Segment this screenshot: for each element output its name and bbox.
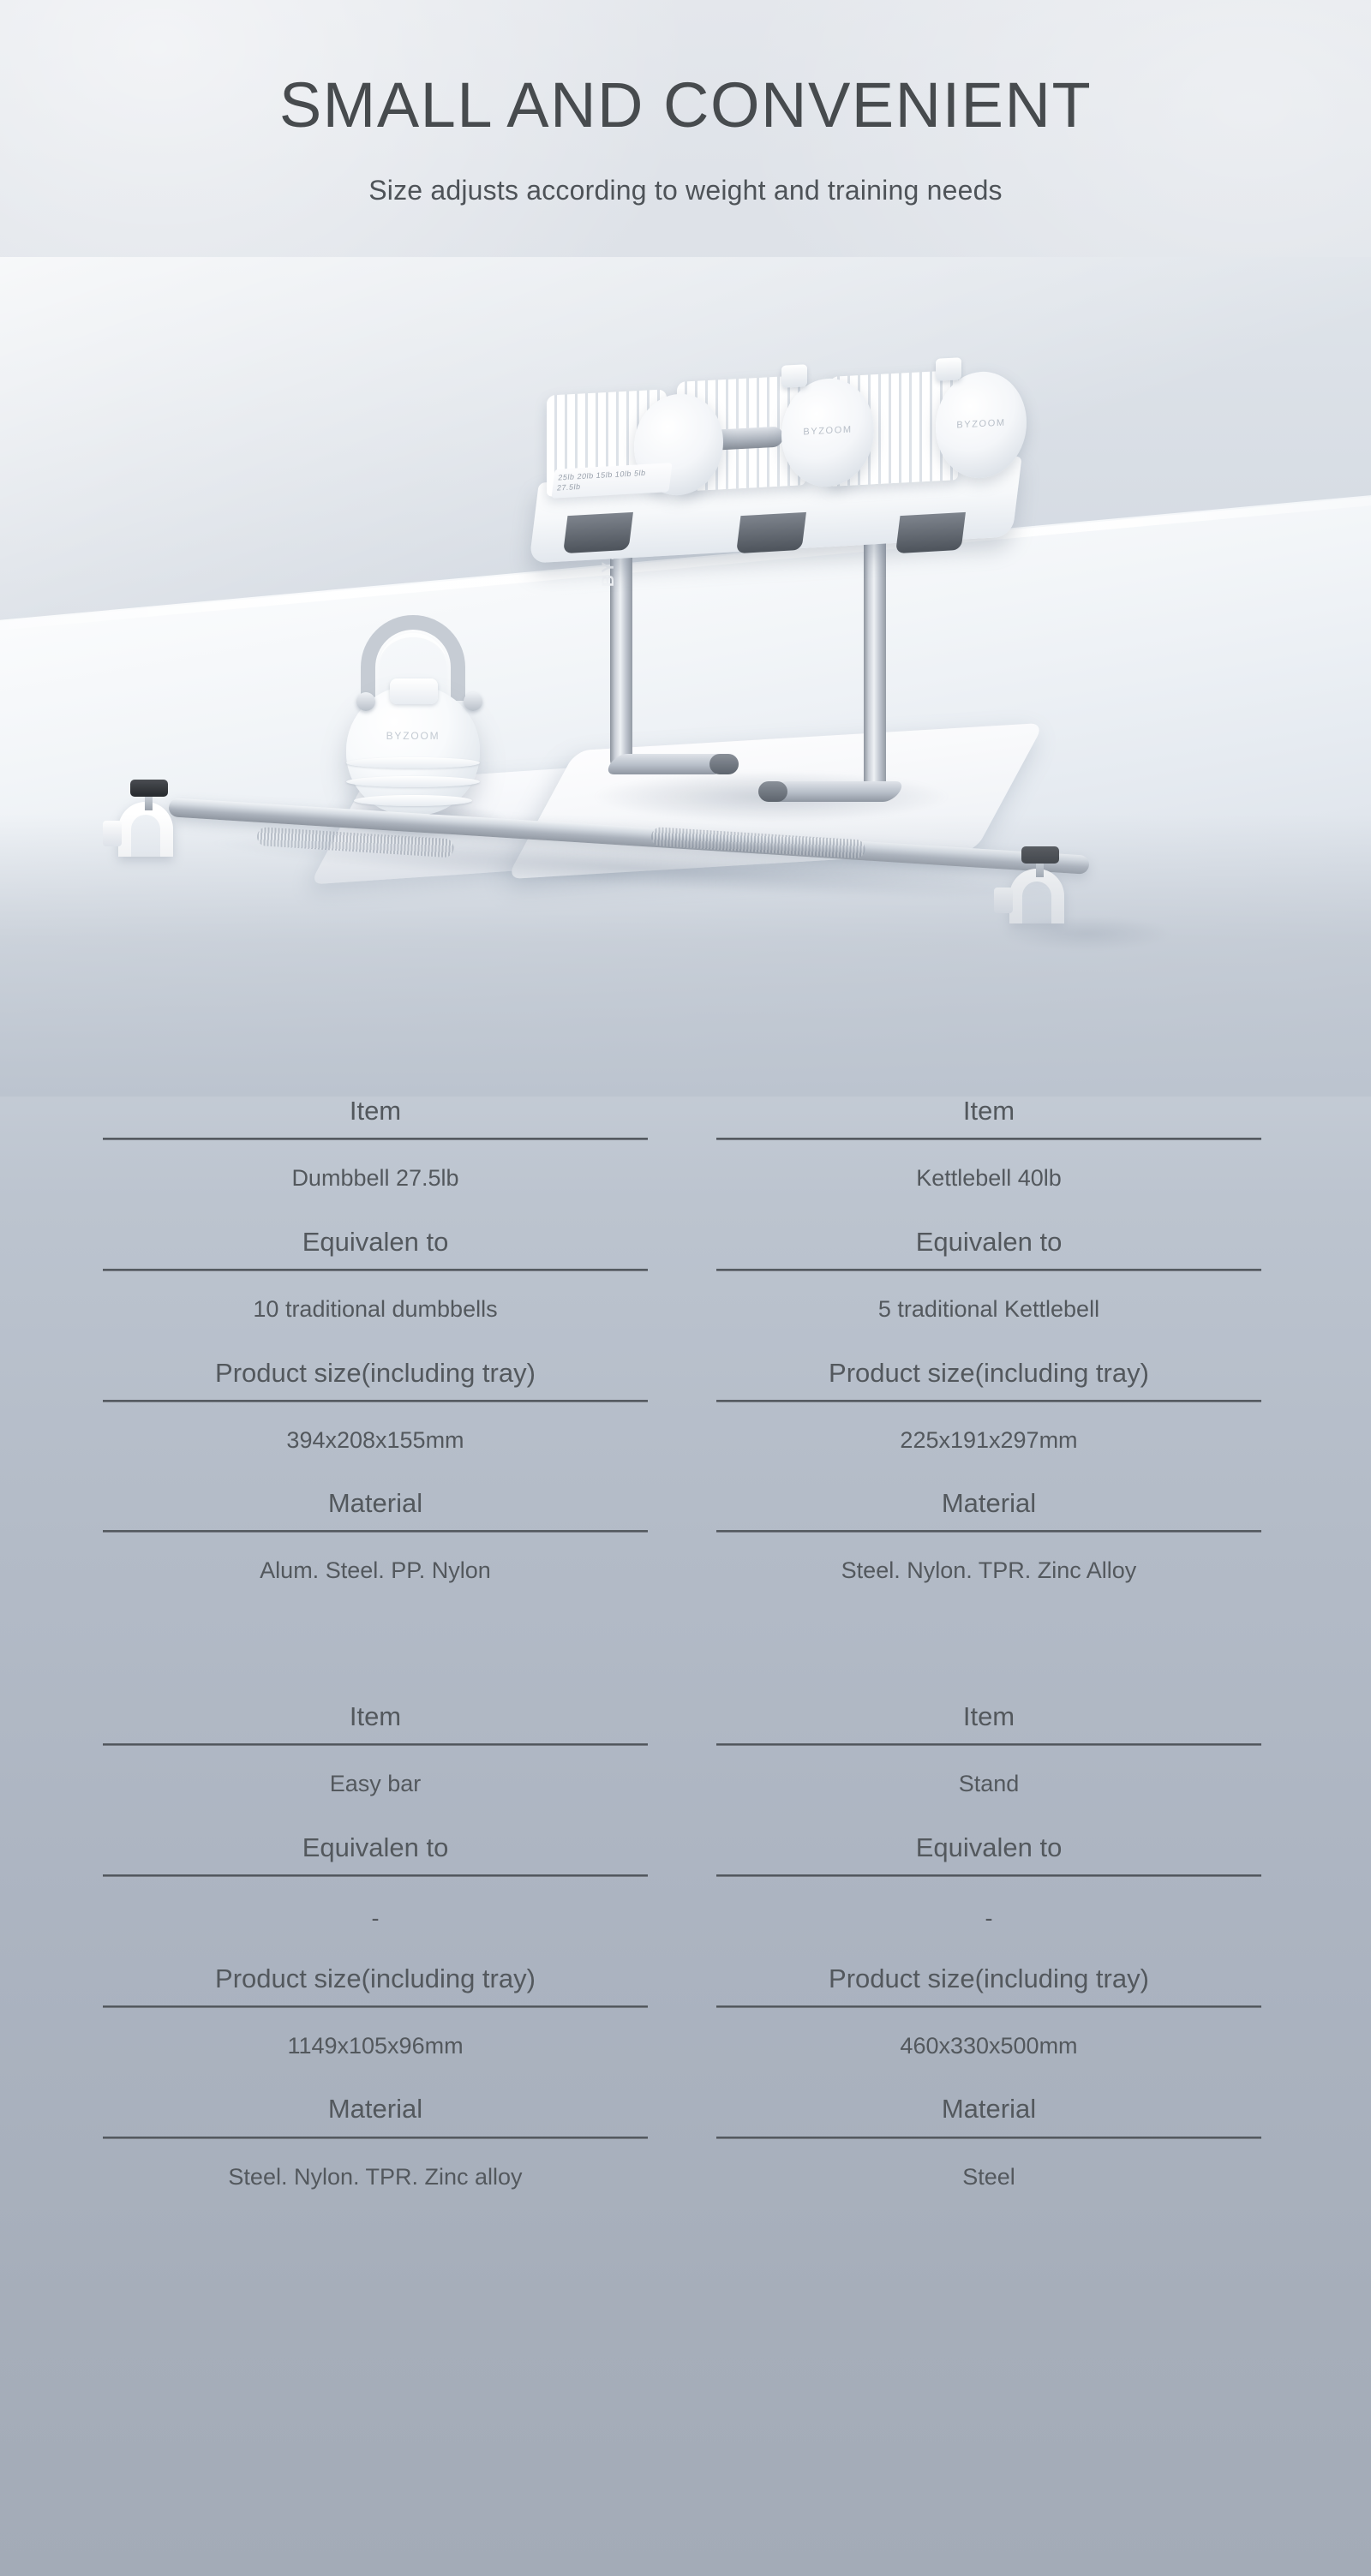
spec-label-item: Item — [716, 1702, 1261, 1743]
dumbbell-selector-clip — [781, 364, 807, 388]
spec-label-material: Material — [103, 1489, 648, 1530]
clamp-knob — [130, 780, 168, 797]
spec-value-equivalent: 5 traditional Kettlebell — [716, 1271, 1261, 1359]
spec-label-product-size: Product size(including tray) — [103, 1359, 648, 1400]
tray-notch — [563, 512, 633, 553]
spec-value-item: Easy bar — [103, 1746, 648, 1833]
spec-label-equivalent: Equivalen to — [716, 1228, 1261, 1269]
spec-value-product-size: 394x208x155mm — [103, 1402, 648, 1490]
spec-label-item: Item — [103, 1097, 648, 1138]
spec-column-dumbbell: Item Dumbbell 27.5lb Equivalen to 10 tra… — [0, 1097, 685, 1620]
dumbbell-selector-clip — [936, 357, 961, 381]
product-detail-page: SMALL AND CONVENIENT Size adjusts accord… — [0, 0, 1371, 2576]
clamp-screw — [145, 795, 153, 810]
spec-value-product-size: 1149x105x96mm — [103, 2008, 648, 2095]
stand-foot-cap-left — [709, 754, 739, 774]
product-hero-image: BYZOOM BYZOOM BYZOOM 25lb 20lb 15lb 10lb… — [0, 257, 1371, 1097]
spec-label-product-size: Product size(including tray) — [103, 1964, 648, 2005]
kettlebell-weight-ring — [346, 757, 480, 768]
page-title: SMALL AND CONVENIENT — [0, 74, 1371, 137]
spec-label-material: Material — [103, 2095, 648, 2136]
spec-value-item: Stand — [716, 1746, 1261, 1833]
stand-foot-cap-right — [758, 781, 787, 802]
spec-label-equivalent: Equivalen to — [103, 1833, 648, 1874]
spec-value-product-size: 460x330x500mm — [716, 2008, 1261, 2095]
spec-value-material: Steel. Nylon. TPR. Zinc alloy — [103, 2139, 648, 2226]
kettlebell-brand-logo: BYZOOM — [346, 730, 480, 742]
scene-bottom-fade — [0, 814, 1371, 1097]
spec-value-material: Steel — [716, 2139, 1261, 2226]
page-subtitle: Size adjusts according to weight and tra… — [0, 175, 1371, 206]
stand-leg-right — [864, 514, 886, 797]
kettlebell-pivot-left — [356, 692, 375, 711]
spec-value-equivalent: - — [103, 1877, 648, 1964]
tray-notch — [736, 512, 806, 553]
spec-label-material: Material — [716, 2095, 1261, 2136]
spec-block: Item Easy bar Equivalen to - Product siz… — [0, 1702, 1371, 2226]
spec-column-stand: Item Stand Equivalen to - Product size(i… — [685, 1702, 1371, 2226]
spec-label-product-size: Product size(including tray) — [716, 1359, 1261, 1400]
kettlebell-weight-ring — [354, 795, 472, 806]
kettlebell-weight-ring — [346, 776, 480, 787]
spec-value-equivalent: 10 traditional dumbbells — [103, 1271, 648, 1359]
tray-notch — [895, 512, 966, 553]
spec-label-equivalent: Equivalen to — [103, 1228, 648, 1269]
spec-column-kettlebell: Item Kettlebell 40lb Equivalen to 5 trad… — [685, 1097, 1371, 1620]
kettlebell-top-cap — [390, 678, 438, 704]
specifications-section: Item Dumbbell 27.5lb Equivalen to 10 tra… — [0, 1097, 1371, 2226]
disc-brand-logo: BYZOOM — [781, 424, 874, 439]
spec-label-product-size: Product size(including tray) — [716, 1964, 1261, 2005]
spec-value-item: Kettlebell 40lb — [716, 1140, 1261, 1228]
kettlebell-pivot-right — [464, 692, 482, 711]
page-header: SMALL AND CONVENIENT Size adjusts accord… — [0, 0, 1371, 206]
spec-value-equivalent: - — [716, 1877, 1261, 1964]
spec-value-material: Alum. Steel. PP. Nylon — [103, 1533, 648, 1620]
spec-label-equivalent: Equivalen to — [716, 1833, 1261, 1874]
spec-value-material: Steel. Nylon. TPR. Zinc Alloy — [716, 1533, 1261, 1620]
spec-value-item: Dumbbell 27.5lb — [103, 1140, 648, 1228]
spec-value-product-size: 225x191x297mm — [716, 1402, 1261, 1490]
spec-label-item: Item — [716, 1097, 1261, 1138]
disc-brand-logo: BYZOOM — [936, 416, 1027, 432]
spec-block: Item Dumbbell 27.5lb Equivalen to 10 tra… — [0, 1097, 1371, 1620]
spec-column-easy-bar: Item Easy bar Equivalen to - Product siz… — [0, 1702, 685, 2226]
spec-label-material: Material — [716, 1489, 1261, 1530]
spec-label-item: Item — [103, 1702, 648, 1743]
